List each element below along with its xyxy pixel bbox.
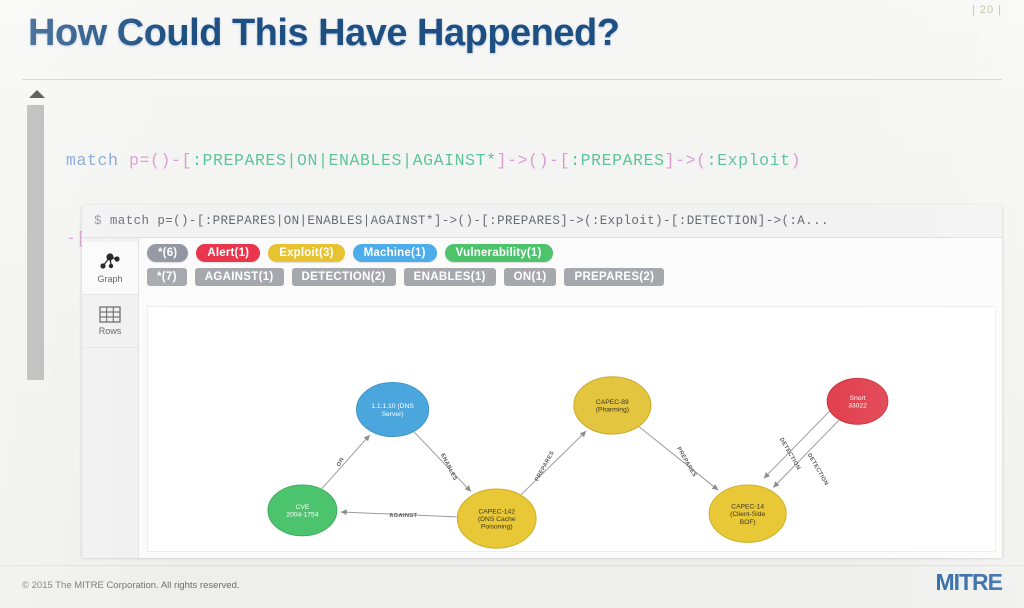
legend: *(6) Alert(1) Exploit(3) Machine(1) Vuln…: [139, 238, 1002, 296]
rel-legend-chip[interactable]: PREPARES(2): [564, 268, 664, 286]
footer-divider: [0, 565, 1024, 566]
graph-edge-label: PREPARES: [675, 446, 697, 478]
graph-node[interactable]: CVE2004-1754: [268, 485, 337, 536]
page-number: | 20 |: [972, 4, 1002, 16]
graph-visualization[interactable]: ONENABLESAGAINSTPREPARESPREPARESDETECTIO…: [148, 307, 996, 552]
page-title: How Could This Have Happened?: [28, 12, 619, 55]
graph-edge[interactable]: [322, 435, 370, 489]
relationship-legend-row: *(7) AGAINST(1) DETECTION(2) ENABLES(1) …: [147, 268, 994, 286]
graph-edge[interactable]: [521, 431, 586, 494]
slide-root: | 20 | How Could This Have Happened? mat…: [0, 0, 1024, 608]
sidebar-item-rows[interactable]: Rows: [82, 295, 138, 348]
title-divider: [22, 79, 1002, 80]
scrollbar-thumb[interactable]: [27, 105, 44, 380]
cypher-rel-types-2: :PREPARES: [570, 151, 665, 170]
cypher-label-exploit: :Exploit: [707, 151, 791, 170]
graph-node[interactable]: CAPEC-89(Pharming): [574, 377, 651, 434]
node-legend-chip[interactable]: Exploit(3): [268, 244, 344, 262]
sidebar-item-graph-label: Graph: [97, 274, 122, 284]
cypher-line-1: match p=()-[:PREPARES|ON|ENABLES|AGAINST…: [66, 148, 1016, 174]
graph-node[interactable]: CAPEC-142(DNS CachePoisoning): [457, 489, 536, 548]
node-legend-chip[interactable]: Alert(1): [196, 244, 260, 262]
node-legend-chip[interactable]: *(6): [147, 244, 188, 262]
prompt-icon: $: [94, 214, 102, 228]
rel-legend-chip[interactable]: *(7): [147, 268, 187, 286]
node-legend-chip[interactable]: Machine(1): [353, 244, 437, 262]
sidebar-item-rows-label: Rows: [99, 326, 122, 336]
graph-edge[interactable]: [773, 420, 839, 487]
graph-edge-label: PREPARES: [534, 450, 556, 482]
mitre-logo: MITRE: [935, 569, 1002, 596]
cypher-close-paren-1: ): [791, 151, 802, 170]
cypher-pattern-1: p=()-[: [119, 151, 193, 170]
cypher-pattern-3: ]->(: [665, 151, 707, 170]
cypher-rel-types-1: :PREPARES|ON|ENABLES|AGAINST*: [192, 151, 497, 170]
view-sidebar: Graph Rows: [82, 238, 139, 558]
rel-legend-chip[interactable]: ON(1): [504, 268, 557, 286]
rel-legend-chip[interactable]: DETECTION(2): [292, 268, 396, 286]
cypher-keyword-match: match: [66, 151, 119, 170]
graph-node[interactable]: Snort33022: [827, 378, 888, 424]
node-legend-row: *(6) Alert(1) Exploit(3) Machine(1) Vuln…: [147, 244, 994, 262]
graph-canvas[interactable]: ONENABLESAGAINSTPREPARESPREPARESDETECTIO…: [147, 306, 996, 552]
graph-edge-label: AGAINST: [389, 513, 417, 519]
query-text[interactable]: match p=()-[:PREPARES|ON|ENABLES|AGAINST…: [110, 214, 829, 228]
node-legend-chip[interactable]: Vulnerability(1): [445, 244, 553, 262]
table-icon: [99, 306, 121, 323]
sidebar-item-graph[interactable]: Graph: [82, 242, 138, 295]
scroll-up-arrow-icon[interactable]: [29, 90, 45, 98]
graph-edge[interactable]: [639, 427, 718, 490]
graph-node[interactable]: CAPEC-14(Client-SideBOF): [709, 485, 786, 542]
graph-edge-label: DETECTION: [806, 453, 829, 487]
footer-copyright: © 2015 The MITRE Corporation. All rights…: [22, 580, 240, 591]
cypher-pattern-2: ]->()-[: [497, 151, 571, 170]
scrollbar[interactable]: [26, 90, 48, 560]
neo4j-browser-window: $ match p=()-[:PREPARES|ON|ENABLES|AGAIN…: [82, 205, 1002, 557]
query-bar[interactable]: $ match p=()-[:PREPARES|ON|ENABLES|AGAIN…: [82, 205, 1002, 238]
rel-legend-chip[interactable]: AGAINST(1): [195, 268, 284, 286]
graph-edge-label: ON: [336, 457, 346, 468]
graph-node[interactable]: 1.1.1.10 (DNSServer): [357, 382, 429, 436]
graph-edge-label: DETECTION: [778, 437, 801, 471]
rel-legend-chip[interactable]: ENABLES(1): [404, 268, 496, 286]
graph-edge-label: ENABLES: [439, 453, 458, 482]
graph-icon: [98, 253, 122, 271]
app-body: Graph Rows: [82, 238, 1002, 558]
result-panel: *(6) Alert(1) Exploit(3) Machine(1) Vuln…: [139, 238, 1002, 558]
